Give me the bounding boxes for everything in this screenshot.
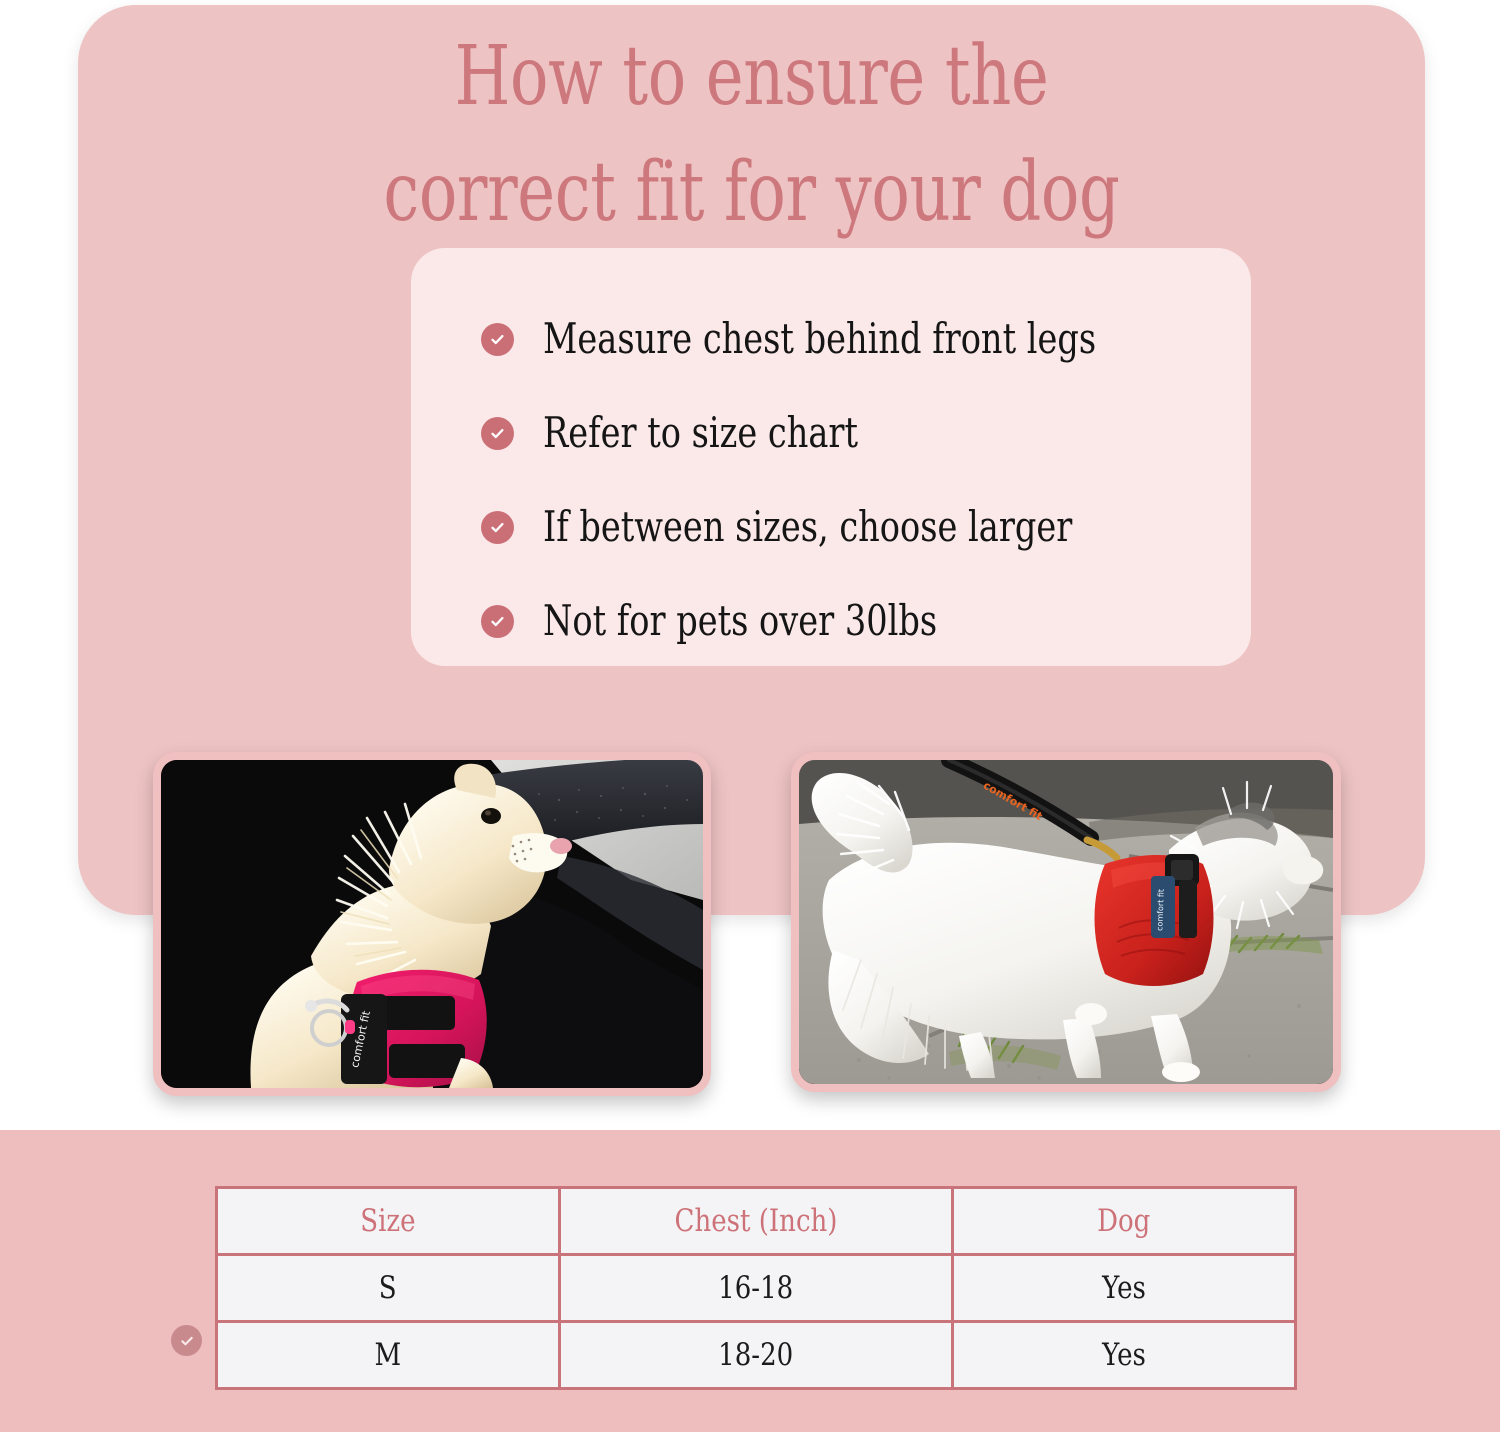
column-header-dog: Dog <box>953 1188 1296 1255</box>
column-header-chest: Chest (Inch) <box>560 1188 953 1255</box>
list-item: Not for pets over 30lbs <box>481 574 1211 668</box>
photo-dog-red-harness: comfort fit <box>791 752 1341 1092</box>
check-circle-icon <box>481 323 514 356</box>
cell-size: M <box>217 1322 560 1389</box>
cell-size: S <box>217 1255 560 1322</box>
check-circle-icon <box>481 605 514 638</box>
size-chart-banner: Size Chest (Inch) Dog S 16-18 Yes M 18-2… <box>0 1130 1500 1432</box>
cell-dog: Yes <box>953 1255 1296 1322</box>
checklist-item-label: Not for pets over 30lbs <box>543 598 937 644</box>
list-item: Measure chest behind front legs <box>481 292 1211 386</box>
checklist-item-label: Measure chest behind front legs <box>543 316 1096 362</box>
photo-dog-pink-harness-canvas: comfort fit <box>161 760 703 1088</box>
check-circle-icon <box>481 511 514 544</box>
photo-dog-pink-harness: comfort fit <box>153 752 711 1096</box>
page-title-line-1: How to ensure the <box>226 19 1277 135</box>
selected-row-check-circle-icon <box>171 1325 202 1356</box>
cell-dog: Yes <box>953 1322 1296 1389</box>
table-header-row: Size Chest (Inch) Dog <box>217 1188 1296 1255</box>
cell-chest: 18-20 <box>560 1322 953 1389</box>
photo-dog-red-harness-canvas: comfort fit <box>799 760 1333 1084</box>
list-item: Refer to size chart <box>481 386 1211 480</box>
table-row[interactable]: M 18-20 Yes <box>217 1322 1296 1389</box>
svg-text:comfort fit: comfort fit <box>1155 889 1165 931</box>
cell-chest: 16-18 <box>560 1255 953 1322</box>
page-title-line-2: correct fit for your dog <box>226 135 1277 251</box>
column-header-size: Size <box>217 1188 560 1255</box>
fit-checklist-card: Measure chest behind front legs Refer to… <box>411 248 1251 666</box>
checklist-item-label: Refer to size chart <box>543 410 858 456</box>
list-item: If between sizes, choose larger <box>481 480 1211 574</box>
check-circle-icon <box>481 417 514 450</box>
table-row[interactable]: S 16-18 Yes <box>217 1255 1296 1322</box>
page-title: How to ensure the correct fit for your d… <box>226 19 1277 251</box>
checklist-item-label: If between sizes, choose larger <box>543 504 1072 550</box>
size-chart-table: Size Chest (Inch) Dog S 16-18 Yes M 18-2… <box>215 1186 1297 1390</box>
